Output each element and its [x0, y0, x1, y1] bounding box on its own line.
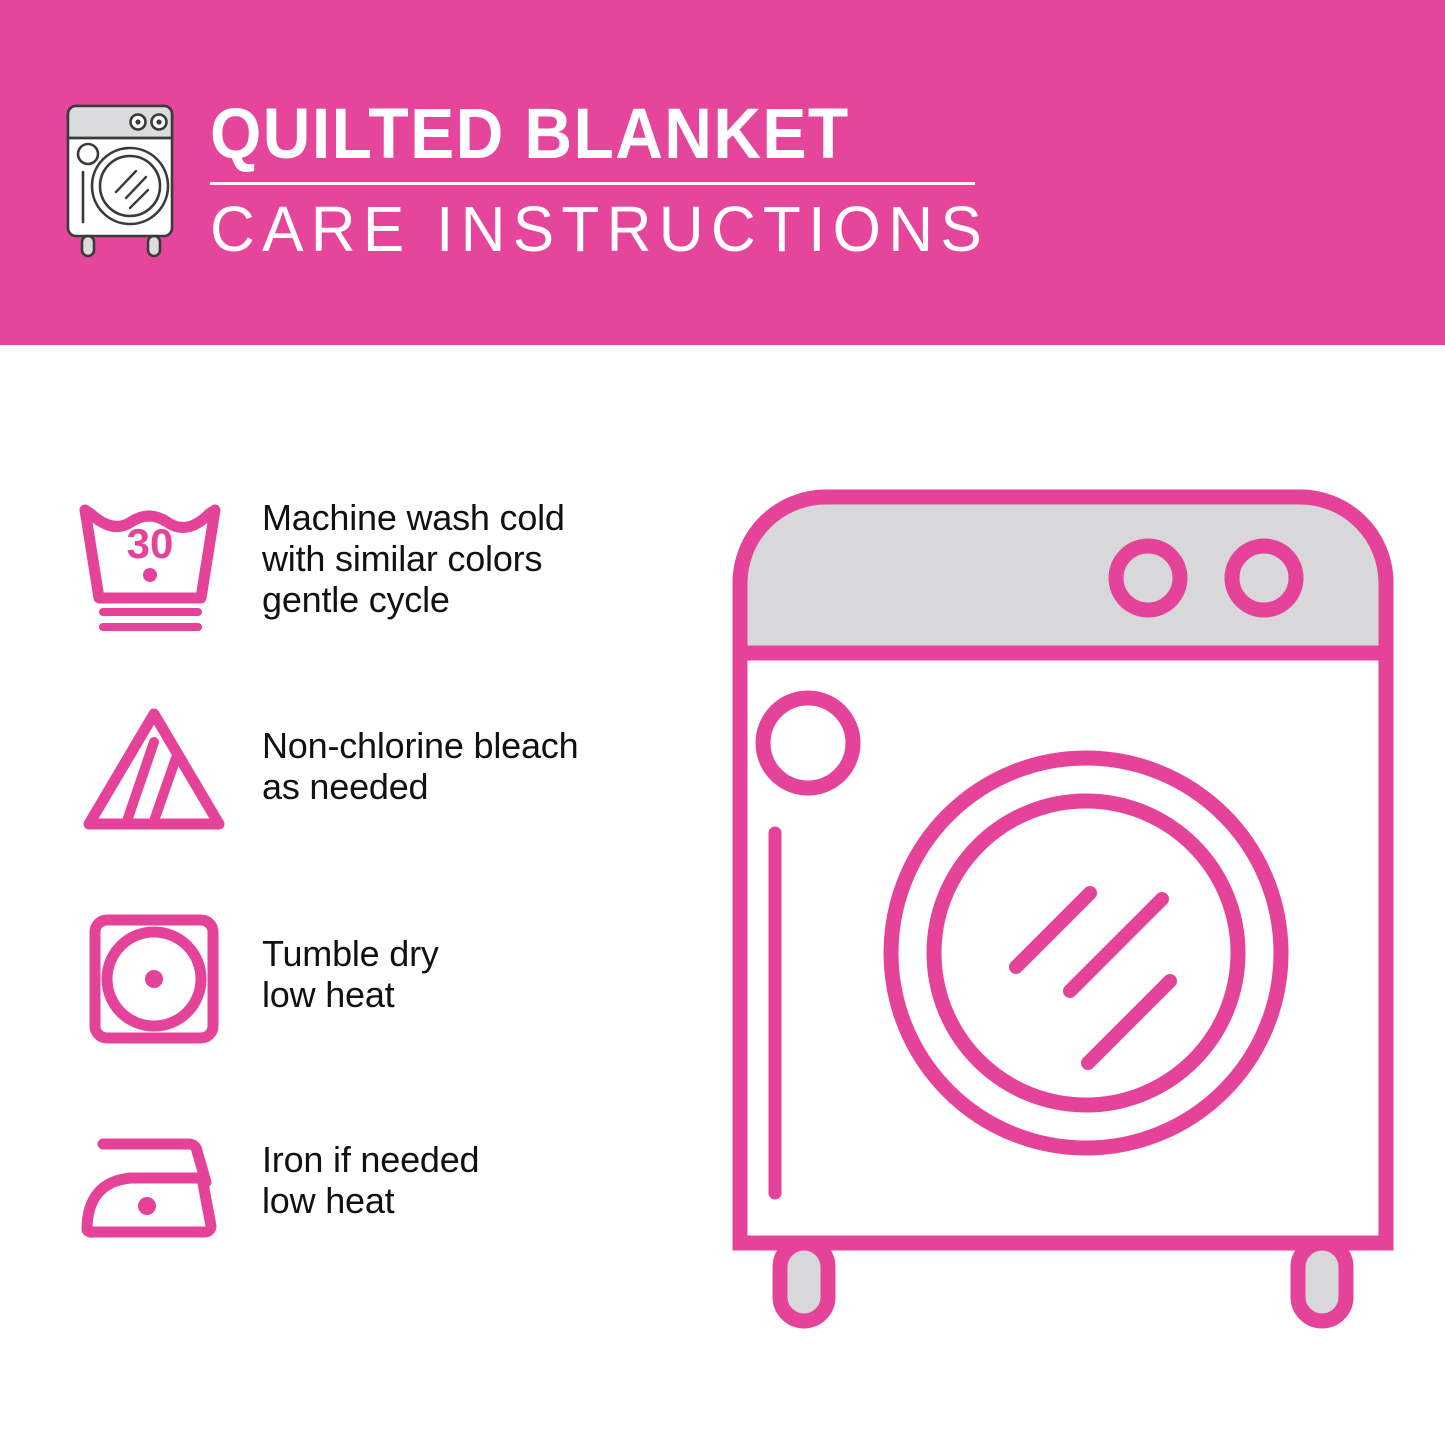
care-instruction-list: 30 Machine wash cold with similar colors… [68, 485, 688, 1317]
care-row-machine-wash: 30 Machine wash cold with similar colors… [68, 485, 688, 693]
care-text-machine-wash: Machine wash cold with similar colors ge… [262, 485, 565, 620]
care-line: Machine wash cold [262, 497, 565, 538]
front-load-washing-machine-illustration [718, 475, 1408, 1355]
care-text-bleach: Non-chlorine bleach as needed [262, 693, 578, 807]
care-line: Tumble dry [262, 933, 439, 974]
care-line: low heat [262, 1180, 479, 1221]
care-row-iron: Iron if needed low heat [68, 1109, 688, 1317]
care-line: gentle cycle [262, 579, 565, 620]
care-line: low heat [262, 974, 439, 1015]
care-row-bleach: Non-chlorine bleach as needed [68, 693, 688, 901]
iron-low-heat-icon [68, 1109, 240, 1264]
care-text-tumble-dry: Tumble dry low heat [262, 901, 439, 1015]
care-text-iron: Iron if needed low heat [262, 1109, 479, 1221]
content-area: 30 Machine wash cold with similar colors… [0, 345, 1445, 1445]
header-title-group: QUILTED BLANKET CARE INSTRUCTIONS [210, 96, 1013, 265]
washing-machine-icon [60, 100, 188, 260]
header-banner: QUILTED BLANKET CARE INSTRUCTIONS [0, 0, 1445, 345]
machine-knob-left [1116, 546, 1180, 610]
wash-temperature-label: 30 [127, 520, 174, 567]
header-content: QUILTED BLANKET CARE INSTRUCTIONS [60, 96, 1013, 265]
tumble-dry-low-heat-icon [68, 901, 240, 1056]
machine-indicator-light [763, 698, 853, 788]
machine-leg-right [1298, 1243, 1346, 1321]
wash-tub-30-gentle-icon: 30 [68, 485, 240, 640]
page-subtitle: CARE INSTRUCTIONS [210, 193, 989, 265]
care-row-tumble-dry: Tumble dry low heat [68, 901, 688, 1109]
non-chlorine-bleach-triangle-icon [68, 693, 240, 848]
care-line: Non-chlorine bleach [262, 725, 578, 766]
machine-knob-right [1232, 546, 1296, 610]
page-title: QUILTED BLANKET [210, 96, 957, 174]
title-divider [210, 182, 975, 185]
care-line: with similar colors [262, 538, 565, 579]
care-line: Iron if needed [262, 1139, 479, 1180]
care-line: as needed [262, 766, 578, 807]
machine-leg-left [780, 1243, 828, 1321]
